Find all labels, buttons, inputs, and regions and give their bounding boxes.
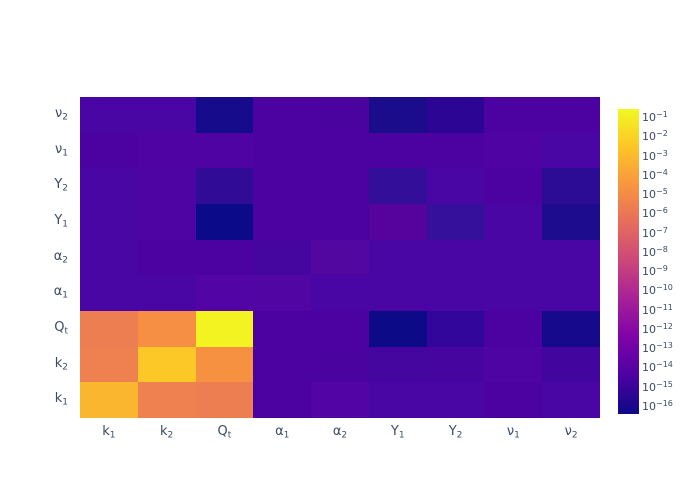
heatmap-cell[interactable]	[484, 311, 542, 347]
heatmap-cell[interactable]	[253, 382, 311, 418]
heatmap-cell[interactable]	[138, 382, 196, 418]
x-tick-label: ν1	[484, 420, 542, 446]
heatmap-cell[interactable]	[311, 347, 369, 383]
x-tick-label: Y2	[427, 420, 485, 446]
heatmap-cell[interactable]	[484, 168, 542, 204]
colorbar-tick-label: 10−16	[642, 400, 673, 412]
heatmap-cell[interactable]	[80, 97, 138, 133]
heatmap-cell[interactable]	[311, 133, 369, 169]
heatmap-cell[interactable]	[80, 347, 138, 383]
heatmap-cell[interactable]	[427, 97, 485, 133]
heatmap-cell[interactable]	[427, 240, 485, 276]
heatmap-cell[interactable]	[138, 275, 196, 311]
heatmap-cell[interactable]	[253, 347, 311, 383]
y-tick-label: Y1	[0, 204, 74, 240]
colorbar-tick-label: 10−12	[642, 323, 673, 335]
y-tick-label: α1	[0, 275, 74, 311]
heatmap-cell[interactable]	[253, 240, 311, 276]
colorbar-tick-label: 10−6	[642, 208, 668, 220]
heatmap-cell[interactable]	[253, 275, 311, 311]
x-tick-label: k1	[80, 420, 138, 446]
heatmap-cell[interactable]	[427, 204, 485, 240]
heatmap-figure: ν2ν1Y2Y1α2α1Qtk2k1 k1k2Qtα1α2Y1Y2ν1ν2 10…	[0, 0, 700, 500]
heatmap-cell[interactable]	[542, 240, 600, 276]
heatmap-cell[interactable]	[196, 347, 254, 383]
heatmap-cell[interactable]	[369, 347, 427, 383]
x-tick-label: α2	[311, 420, 369, 446]
colorbar-tick-label: 10−2	[642, 130, 668, 142]
heatmap-cell[interactable]	[542, 204, 600, 240]
heatmap-cell[interactable]	[427, 311, 485, 347]
y-tick-label: Qt	[0, 311, 74, 347]
y-tick-label: k1	[0, 382, 74, 418]
colorbar-tick-label: 10−7	[642, 227, 668, 239]
heatmap-cell[interactable]	[369, 275, 427, 311]
heatmap-cell[interactable]	[138, 168, 196, 204]
heatmap-cell[interactable]	[484, 382, 542, 418]
y-tick-label: k2	[0, 347, 74, 383]
heatmap-cell[interactable]	[542, 275, 600, 311]
heatmap-cell[interactable]	[196, 311, 254, 347]
heatmap-cell[interactable]	[369, 133, 427, 169]
heatmap-cell[interactable]	[427, 133, 485, 169]
heatmap-cell[interactable]	[196, 382, 254, 418]
heatmap-cell[interactable]	[80, 382, 138, 418]
colorbar-tick-label: 10−4	[642, 169, 668, 181]
heatmap-cell[interactable]	[80, 133, 138, 169]
heatmap-cell[interactable]	[311, 382, 369, 418]
y-tick-label: ν1	[0, 133, 74, 169]
colorbar-tick-label: 10−15	[642, 381, 673, 393]
heatmap-cell[interactable]	[253, 133, 311, 169]
x-tick-label: Qt	[196, 420, 254, 446]
colorbar-tick-label: 10−3	[642, 150, 668, 162]
heatmap-plot-area[interactable]	[80, 97, 600, 418]
colorbar-tick-label: 10−14	[642, 362, 673, 374]
heatmap-cell[interactable]	[80, 204, 138, 240]
heatmap-cell[interactable]	[80, 240, 138, 276]
heatmap-cell[interactable]	[484, 240, 542, 276]
heatmap-cell[interactable]	[311, 168, 369, 204]
heatmap-cell[interactable]	[369, 204, 427, 240]
heatmap-cell[interactable]	[311, 97, 369, 133]
heatmap-cell[interactable]	[253, 311, 311, 347]
x-tick-label: ν2	[542, 420, 600, 446]
x-tick-label: Y1	[369, 420, 427, 446]
y-axis-tick-labels: ν2ν1Y2Y1α2α1Qtk2k1	[0, 97, 74, 418]
heatmap-cell[interactable]	[80, 311, 138, 347]
colorbar-tick-label: 10−5	[642, 188, 668, 200]
heatmap-cell[interactable]	[138, 347, 196, 383]
heatmap-cell[interactable]	[196, 240, 254, 276]
heatmap-cell[interactable]	[138, 204, 196, 240]
heatmap-cell[interactable]	[542, 311, 600, 347]
colorbar-tick-label: 10−1	[642, 111, 668, 123]
colorbar-tick-label: 10−13	[642, 342, 673, 354]
heatmap-cell[interactable]	[484, 97, 542, 133]
heatmap-cell[interactable]	[427, 275, 485, 311]
heatmap-cell[interactable]	[253, 168, 311, 204]
colorbar-tick-label: 10−9	[642, 265, 668, 277]
colorbar-tick-label: 10−8	[642, 246, 668, 258]
heatmap-cell[interactable]	[253, 204, 311, 240]
heatmap-cell[interactable]	[484, 204, 542, 240]
heatmap-cell[interactable]	[196, 204, 254, 240]
heatmap-cell[interactable]	[542, 382, 600, 418]
heatmap-cell[interactable]	[196, 275, 254, 311]
colorbar-tick-label: 10−10	[642, 285, 673, 297]
x-axis-tick-labels: k1k2Qtα1α2Y1Y2ν1ν2	[80, 420, 600, 446]
heatmap-cell[interactable]	[542, 97, 600, 133]
colorbar-tick-label: 10−11	[642, 304, 673, 316]
x-tick-label: α1	[253, 420, 311, 446]
colorbar-tick-labels: 10−110−210−310−410−510−610−710−810−910−1…	[642, 109, 688, 414]
heatmap-cell[interactable]	[369, 240, 427, 276]
heatmap-cell[interactable]	[138, 133, 196, 169]
heatmap-cell[interactable]	[369, 311, 427, 347]
heatmap-cell[interactable]	[138, 240, 196, 276]
heatmap-cell[interactable]	[427, 382, 485, 418]
heatmap-cell[interactable]	[369, 97, 427, 133]
colorbar: 10−110−210−310−410−510−610−710−810−910−1…	[618, 109, 688, 414]
heatmap-cell[interactable]	[427, 168, 485, 204]
heatmap-cell[interactable]	[311, 204, 369, 240]
heatmap-cell[interactable]	[138, 97, 196, 133]
heatmap-cell[interactable]	[542, 168, 600, 204]
x-tick-label: k2	[138, 420, 196, 446]
heatmap-cell[interactable]	[138, 311, 196, 347]
heatmap-cell[interactable]	[80, 275, 138, 311]
heatmap-cell[interactable]	[542, 347, 600, 383]
heatmap-cell[interactable]	[427, 347, 485, 383]
heatmap-cell[interactable]	[80, 168, 138, 204]
y-tick-label: ν2	[0, 97, 74, 133]
heatmap-cell[interactable]	[311, 240, 369, 276]
heatmap-cell[interactable]	[196, 168, 254, 204]
heatmap-cell[interactable]	[196, 97, 254, 133]
colorbar-gradient	[618, 109, 639, 414]
heatmap-cell[interactable]	[253, 97, 311, 133]
y-tick-label: α2	[0, 240, 74, 276]
heatmap-cell[interactable]	[484, 275, 542, 311]
heatmap-cell[interactable]	[484, 347, 542, 383]
heatmap-cell[interactable]	[369, 168, 427, 204]
heatmap-cell[interactable]	[311, 311, 369, 347]
heatmap-cell[interactable]	[311, 275, 369, 311]
heatmap-cell[interactable]	[542, 133, 600, 169]
heatmap-cell[interactable]	[484, 133, 542, 169]
heatmap-cell[interactable]	[369, 382, 427, 418]
heatmap-cell[interactable]	[196, 133, 254, 169]
y-tick-label: Y2	[0, 168, 74, 204]
